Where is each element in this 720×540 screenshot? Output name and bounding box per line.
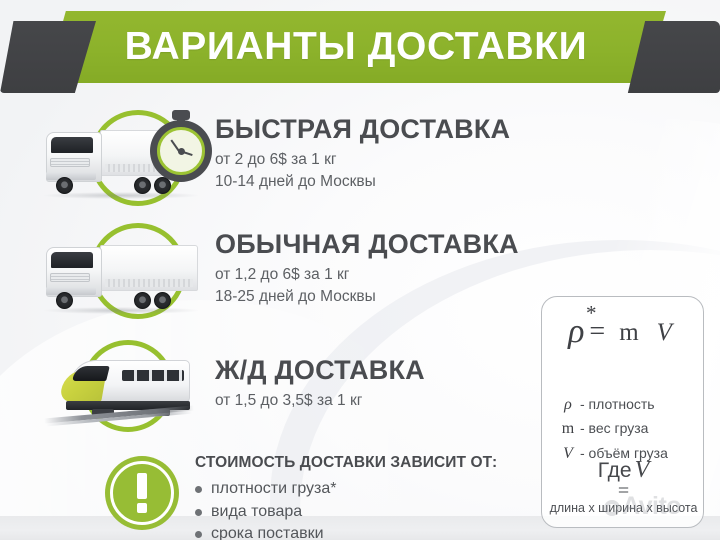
option-price: от 1,5 до 3,5$ за 1 кг	[215, 390, 425, 412]
formula-equals: =	[589, 316, 605, 348]
option-price: от 2 до 6$ за 1 кг	[215, 149, 510, 171]
legend-row: m - вес груза	[556, 417, 706, 441]
page-title: ВАРИАНТЫ ДОСТАВКИ	[46, 11, 666, 83]
legend-symbol: ρ	[556, 393, 580, 417]
option-text: Ж/Д ДОСТАВКА от 1,5 до 3,5$ за 1 кг	[215, 356, 425, 411]
train-icon	[44, 354, 194, 424]
option-artwork	[34, 215, 209, 323]
poster-canvas: ВАРИАНТЫ ДОСТАВКИ	[0, 0, 720, 540]
bullet-icon	[195, 486, 202, 493]
list-item: вида товара	[195, 501, 497, 524]
list-item: плотности груза*	[195, 478, 497, 501]
formula-rho: ρ	[568, 313, 584, 351]
stopwatch-icon	[146, 106, 218, 182]
legend-text: - вес груза	[580, 418, 648, 439]
avito-watermark: Avito	[604, 492, 681, 521]
watermark-text: Avito	[622, 492, 681, 520]
bullet-icon	[195, 531, 202, 538]
option-text: ОБЫЧНАЯ ДОСТАВКА от 1,2 до 6$ за 1 кг 18…	[215, 230, 519, 307]
list-item-label: вида товара	[211, 501, 302, 524]
bullet-icon	[195, 509, 202, 516]
list-item-label: срока поставки	[211, 523, 324, 540]
note-text: СТОИМОСТЬ ДОСТАВКИ ЗАВИСИТ ОТ: плотности…	[195, 452, 497, 540]
list-item: срока поставки	[195, 523, 497, 540]
option-artwork	[34, 330, 209, 438]
where-label: Где	[598, 459, 632, 482]
option-artwork	[34, 100, 209, 208]
note-heading: СТОИМОСТЬ ДОСТАВКИ ЗАВИСИТ ОТ:	[195, 454, 497, 472]
option-eta: 18-25 дней до Москвы	[215, 286, 519, 308]
legend-row: ρ - плотность	[556, 393, 706, 417]
option-heading: БЫСТРАЯ ДОСТАВКА	[215, 115, 510, 143]
option-heading: ОБЫЧНАЯ ДОСТАВКА	[215, 230, 519, 258]
note-list: плотности груза* вида товара срока поста…	[195, 478, 497, 540]
truck-icon	[42, 237, 200, 311]
option-heading: Ж/Д ДОСТАВКА	[215, 356, 425, 384]
watermark-o-icon	[604, 500, 620, 516]
formula-legend: ρ - плотность m - вес груза V - объём гр…	[556, 393, 706, 466]
cost-factors-note: СТОИМОСТЬ ДОСТАВКИ ЗАВИСИТ ОТ: плотности…	[105, 452, 497, 540]
legend-text: - плотность	[580, 394, 655, 415]
option-eta: 10-14 дней до Москвы	[215, 171, 510, 193]
delivery-option-rail: Ж/Д ДОСТАВКА от 1,5 до 3,5$ за 1 кг	[34, 330, 425, 438]
list-item-label: плотности груза*	[211, 478, 337, 501]
legend-symbol: m	[556, 417, 580, 441]
exclamation-icon	[105, 456, 179, 530]
header-banner: ВАРИАНТЫ ДОСТАВКИ	[0, 11, 720, 83]
option-text: БЫСТРАЯ ДОСТАВКА от 2 до 6$ за 1 кг 10-1…	[215, 115, 510, 192]
formula-expression: ρ = m V	[542, 313, 705, 351]
formula-numerator: m	[612, 319, 645, 348]
formula-fraction: m V	[612, 320, 679, 345]
delivery-option-regular: ОБЫЧНАЯ ДОСТАВКА от 1,2 до 6$ за 1 кг 18…	[34, 215, 519, 323]
option-price: от 1,2 до 6$ за 1 кг	[215, 264, 519, 286]
delivery-option-fast: БЫСТРАЯ ДОСТАВКА от 2 до 6$ за 1 кг 10-1…	[34, 100, 510, 208]
formula-denominator: V	[650, 317, 679, 346]
where-symbol: V	[635, 457, 650, 483]
